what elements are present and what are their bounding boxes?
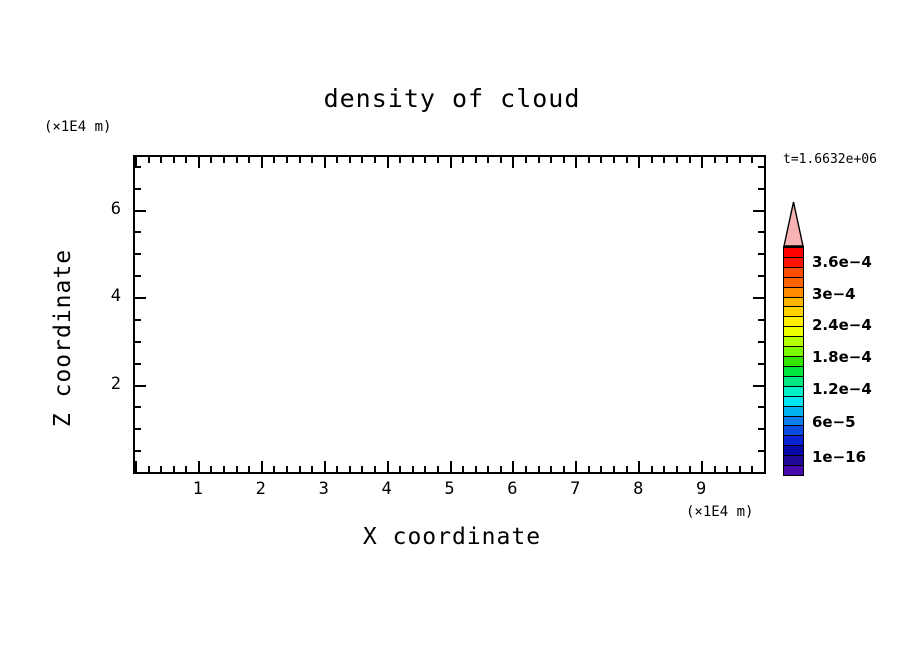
x-major-tick [512,461,514,472]
y-minor-tick [135,231,141,233]
x-minor-tick [374,466,376,472]
figure-canvas: density of cloud (×1E4 m) (×1E4 m) t=1.6… [0,0,904,654]
y-tick-label: 6 [99,199,121,219]
x-minor-tick-top [626,157,628,163]
x-minor-tick [148,466,150,472]
y-minor-tick-right [758,428,764,430]
x-major-tick [261,461,263,472]
y-major-tick-right [753,210,764,212]
y-major-tick-right [753,385,764,387]
colorbar-over-arrow [783,201,804,247]
colorbar [783,246,804,476]
x-minor-tick-top [538,157,540,163]
y-minor-tick-right [758,341,764,343]
x-minor-tick [500,466,502,472]
colorbar-tick-label: 1.8e−4 [812,348,872,366]
y-minor-tick [135,363,141,365]
x-minor-tick [236,466,238,472]
x-minor-tick-top [739,157,741,163]
y-axis-title: Z coordinate [50,248,76,428]
x-minor-tick-top [550,157,552,163]
x-major-tick-top [387,157,389,168]
y-minor-tick-right [758,472,764,474]
x-minor-tick [663,466,665,472]
x-minor-tick [726,466,728,472]
x-major-tick [701,461,703,472]
x-minor-tick-top [613,157,615,163]
x-major-tick [387,461,389,472]
page-title: density of cloud [0,84,904,113]
x-minor-tick-top [173,157,175,163]
x-minor-tick-top [148,157,150,163]
x-minor-tick [336,466,338,472]
x-tick-label: 5 [435,479,465,499]
x-minor-tick [563,466,565,472]
x-minor-tick [538,466,540,472]
x-major-tick [198,461,200,472]
x-major-tick-top [764,157,766,168]
x-minor-tick-top [475,157,477,163]
x-major-tick-top [575,157,577,168]
y-minor-tick-right [758,406,764,408]
x-minor-tick [739,466,741,472]
x-minor-tick [185,466,187,472]
x-minor-tick-top [336,157,338,163]
x-minor-tick-top [751,157,753,163]
x-minor-tick [361,466,363,472]
x-minor-tick [173,466,175,472]
x-minor-tick-top [726,157,728,163]
x-minor-tick [588,466,590,472]
x-minor-tick [437,466,439,472]
x-minor-tick-top [651,157,653,163]
colorbar-tick-label: 3e−4 [812,285,856,303]
y-minor-tick [135,428,141,430]
x-major-tick [638,461,640,472]
y-major-tick [135,210,146,212]
x-tick-label: 8 [623,479,653,499]
y-tick-label: 2 [99,374,121,394]
y-minor-tick-right [758,231,764,233]
x-minor-tick-top [714,157,716,163]
x-minor-tick-top [349,157,351,163]
plot-frame [133,155,766,474]
colorbar-tick-label: 3.6e−4 [812,253,872,271]
x-major-tick [324,461,326,472]
x-major-tick-top [198,157,200,168]
y-minor-tick [135,253,141,255]
x-minor-tick [462,466,464,472]
x-minor-tick [714,466,716,472]
x-minor-tick-top [663,157,665,163]
y-minor-tick-right [758,319,764,321]
x-minor-tick [550,466,552,472]
x-minor-tick-top [412,157,414,163]
time-annotation: t=1.6632e+06 [783,152,877,167]
x-tick-label: 9 [686,479,716,499]
x-minor-tick-top [500,157,502,163]
y-major-tick-right [753,297,764,299]
x-minor-tick-top [223,157,225,163]
x-minor-tick-top [248,157,250,163]
x-tick-label: 1 [183,479,213,499]
y-minor-tick [135,450,141,452]
x-minor-tick [487,466,489,472]
x-minor-tick [412,466,414,472]
y-minor-tick [135,275,141,277]
y-minor-tick [135,166,141,168]
x-minor-tick-top [374,157,376,163]
x-minor-tick-top [311,157,313,163]
x-minor-tick [399,466,401,472]
y-minor-tick [135,406,141,408]
x-minor-tick-top [210,157,212,163]
y-major-tick [135,385,146,387]
x-major-tick-top [324,157,326,168]
colorbar-tick-label: 1.2e−4 [812,380,872,398]
x-minor-tick-top [399,157,401,163]
x-major-tick [764,461,766,472]
x-minor-tick [651,466,653,472]
x-major-tick-top [512,157,514,168]
x-minor-tick-top [462,157,464,163]
x-minor-tick [689,466,691,472]
x-minor-tick-top [487,157,489,163]
x-minor-tick-top [286,157,288,163]
x-major-tick [135,461,137,472]
y-minor-tick-right [758,188,764,190]
y-tick-label: 4 [99,286,121,306]
x-minor-tick [676,466,678,472]
x-major-tick-top [261,157,263,168]
x-minor-tick [613,466,615,472]
x-axis-title: X coordinate [0,524,904,550]
x-minor-tick-top [563,157,565,163]
x-minor-tick [349,466,351,472]
x-minor-tick-top [299,157,301,163]
x-minor-tick [475,466,477,472]
x-tick-label: 2 [246,479,276,499]
y-minor-tick [135,188,141,190]
x-axis-unit-caption: (×1E4 m) [686,504,753,520]
colorbar-band [784,465,803,476]
x-minor-tick-top [600,157,602,163]
x-major-tick [575,461,577,472]
y-minor-tick-right [758,275,764,277]
x-minor-tick-top [424,157,426,163]
x-minor-tick [299,466,301,472]
x-major-tick-top [450,157,452,168]
x-minor-tick [286,466,288,472]
x-minor-tick-top [437,157,439,163]
x-tick-label: 6 [497,479,527,499]
y-minor-tick-right [758,253,764,255]
x-tick-label: 4 [372,479,402,499]
y-minor-tick [135,472,141,474]
y-minor-tick [135,341,141,343]
x-tick-label: 3 [309,479,339,499]
x-major-tick-top [701,157,703,168]
x-minor-tick-top [273,157,275,163]
x-minor-tick [525,466,527,472]
x-minor-tick [223,466,225,472]
x-minor-tick [273,466,275,472]
x-tick-label: 7 [560,479,590,499]
colorbar-tick-label: 2.4e−4 [812,316,872,334]
y-minor-tick [135,319,141,321]
y-minor-tick-right [758,450,764,452]
x-minor-tick-top [676,157,678,163]
x-minor-tick-top [160,157,162,163]
y-major-tick [135,297,146,299]
x-minor-tick [248,466,250,472]
x-minor-tick-top [236,157,238,163]
colorbar-tick-label: 1e−16 [812,448,866,466]
z-axis-unit-caption: (×1E4 m) [44,119,111,135]
x-minor-tick-top [525,157,527,163]
x-minor-tick-top [361,157,363,163]
x-major-tick [450,461,452,472]
colorbar-tick-label: 6e−5 [812,413,856,431]
y-minor-tick-right [758,166,764,168]
x-minor-tick [311,466,313,472]
y-minor-tick-right [758,363,764,365]
x-minor-tick [600,466,602,472]
x-minor-tick [424,466,426,472]
x-minor-tick [210,466,212,472]
x-minor-tick [626,466,628,472]
x-minor-tick [751,466,753,472]
x-minor-tick-top [185,157,187,163]
x-minor-tick-top [588,157,590,163]
x-minor-tick-top [689,157,691,163]
x-major-tick-top [638,157,640,168]
x-minor-tick [160,466,162,472]
